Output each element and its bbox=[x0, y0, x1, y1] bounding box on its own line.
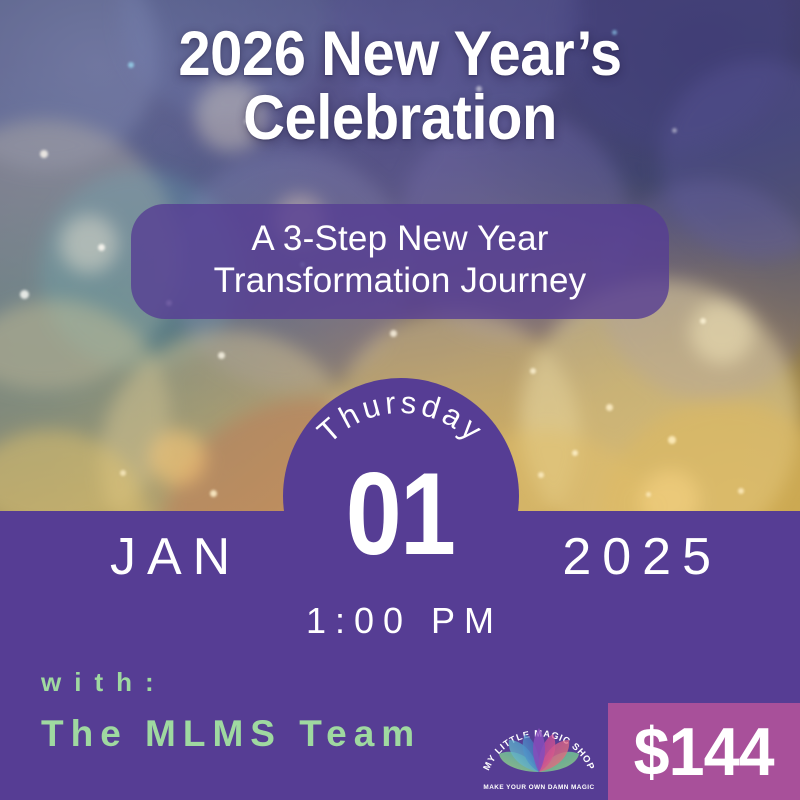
title-line-2: Celebration bbox=[32, 86, 768, 150]
title-line-1: 2026 New Year’s bbox=[32, 22, 768, 86]
logo-tagline: MAKE YOUR OWN DAMN MAGIC bbox=[483, 784, 594, 791]
event-title: 2026 New Year’s Celebration bbox=[32, 22, 768, 151]
brand-logo: MY LITTLE MAGIC SHOP MAKE YOUR OWN DAMN … bbox=[477, 700, 601, 792]
year-label: 2025 bbox=[562, 527, 722, 587]
weekday-label: Thursday bbox=[310, 385, 491, 450]
price-badge: $144 bbox=[608, 703, 800, 800]
with-label: with: bbox=[41, 667, 167, 698]
subtitle-line-2: Transformation Journey bbox=[151, 260, 649, 302]
price-amount: $144 bbox=[634, 718, 774, 786]
time-label: 1:00 PM bbox=[0, 600, 800, 642]
event-flyer: 2026 New Year’s Celebration A 3-Step New… bbox=[0, 0, 800, 800]
month-label: JAN bbox=[110, 527, 241, 587]
presenter-name: The MLMS Team bbox=[41, 713, 421, 755]
subtitle-line-1: A 3-Step New Year bbox=[151, 218, 649, 260]
subtitle-plate: A 3-Step New Year Transformation Journey bbox=[131, 204, 669, 319]
